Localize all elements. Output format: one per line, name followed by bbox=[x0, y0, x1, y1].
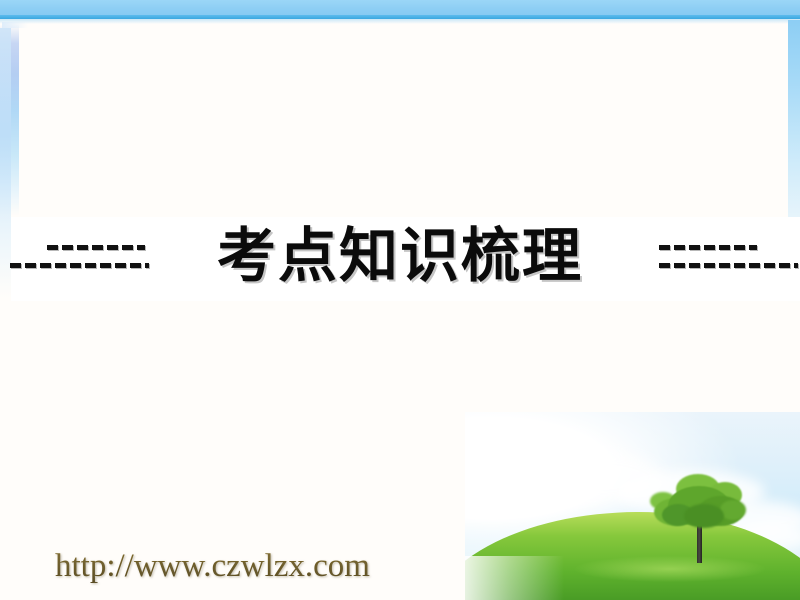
tree-hill-photo bbox=[465, 412, 800, 600]
top-banner-bar bbox=[0, 0, 800, 15]
footer-website-url[interactable]: http://www.czwlzx.com bbox=[55, 547, 370, 585]
photo-left-fade bbox=[465, 556, 564, 600]
tree-icon bbox=[650, 470, 746, 560]
top-banner-fade bbox=[0, 19, 800, 24]
slide-canvas: 考点知识梳理 http://www.czwlzx.com bbox=[0, 0, 800, 600]
top-left-corner-accent bbox=[2, 22, 28, 28]
tree-foliage bbox=[684, 504, 724, 528]
slide-title: 考点知识梳理 bbox=[0, 216, 800, 296]
